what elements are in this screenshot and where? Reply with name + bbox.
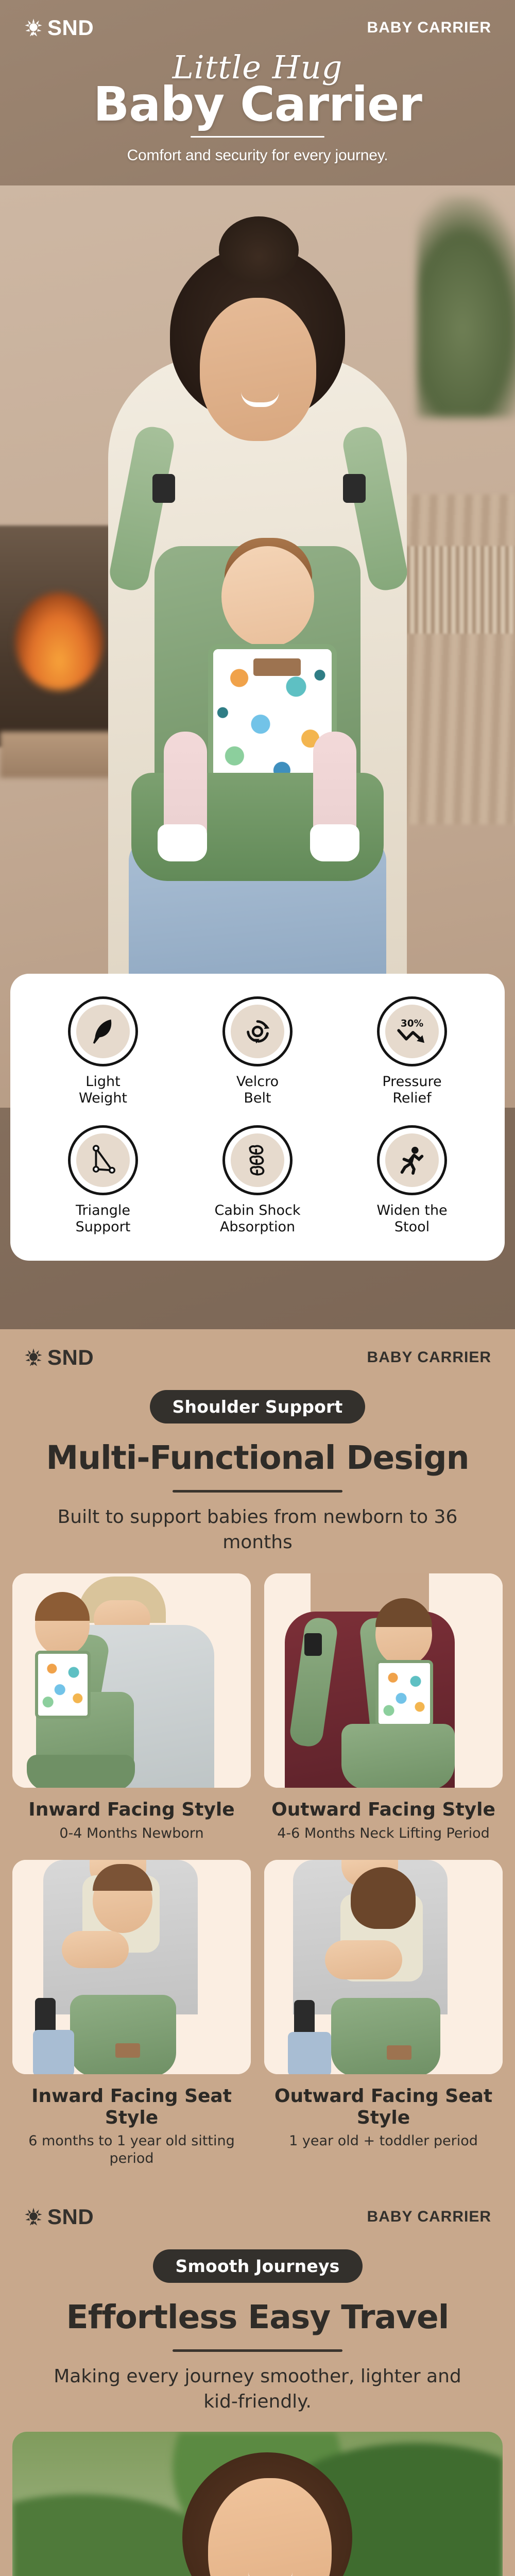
mother-arm [325, 1940, 402, 1979]
carry-style-card-outward-facing[interactable]: Outward Facing Style 4-6 Months Neck Lif… [264, 1573, 503, 1842]
hero-subtitle: Comfort and security for every journey. [0, 147, 515, 164]
feature-label-line1: Widen the [376, 1202, 447, 1218]
feature-triangle-support: Triangle Support [26, 1125, 180, 1235]
lifestyle-hero-photo [12, 2432, 503, 2576]
hero-divider [191, 136, 324, 138]
section3-pill-badge: Smooth Journeys [153, 2249, 363, 2283]
feature-icon-ring [222, 996, 293, 1066]
carrier-buckle [304, 1633, 322, 1656]
feature-icon-disc [76, 1005, 130, 1058]
carry-style-title: Outward Facing Seat Style [264, 2086, 503, 2128]
carry-style-photo [12, 1573, 251, 1788]
velcro-loop-icon [242, 1015, 273, 1047]
feature-icon-ring: 30% [377, 996, 447, 1066]
feature-icon-ring [68, 1125, 138, 1195]
daisy-flower-icon [24, 18, 43, 38]
brand-leather-tag [253, 658, 301, 676]
feature-label-line2: Weight [79, 1090, 127, 1106]
mother-hair-bun [219, 216, 299, 283]
carry-style-caption: 6 months to 1 year old sitting period [12, 2132, 251, 2168]
feature-widen-the-stool: Widen the Stool [335, 1125, 489, 1235]
carry-style-card-outward-seat[interactable]: Outward Facing Seat Style 1 year old + t… [264, 1860, 503, 2168]
feature-highlights-card: Light Weight [10, 974, 505, 1261]
carrier-hip-seat [27, 1755, 135, 1788]
carry-style-title: Inward Facing Seat Style [12, 2086, 251, 2128]
carrier-hip-seat [341, 1724, 455, 1788]
feature-icon-ring [377, 1125, 447, 1195]
product-listing-page: SND BABY CARRIER Little Hug Baby Carrier… [0, 0, 515, 2576]
carry-style-title: Inward Facing Style [12, 1799, 251, 1820]
mother-smile [248, 2572, 293, 2576]
brand-category: BABY CARRIER [367, 1349, 491, 1366]
feature-icon-disc [231, 1005, 284, 1058]
daisy-flower-icon [24, 2207, 43, 2227]
section3-subtitle: Making every journey smoother, lighter a… [0, 2364, 515, 2414]
feature-pressure-relief: 30% Pressure Relief [335, 996, 489, 1107]
mother-jeans [288, 2032, 331, 2074]
section2-subtitle: Built to support babies from newborn to … [0, 1505, 515, 1555]
brand-bar-section3: SND BABY CARRIER [0, 2189, 515, 2245]
carry-style-title: Outward Facing Style [264, 1799, 503, 1820]
section2-pill-wrap: Shoulder Support [0, 1390, 515, 1423]
carry-style-caption: 0-4 Months Newborn [12, 1825, 251, 1843]
houseplant [417, 196, 515, 417]
feature-label-line2: Stool [394, 1219, 430, 1235]
brand-bar-section2: SND BABY CARRIER [0, 1329, 515, 1386]
feature-velcro-belt: Velcro Belt [180, 996, 335, 1107]
carry-style-caption: 1 year old + toddler period [264, 2132, 503, 2150]
feature-label-line2: Support [76, 1219, 131, 1235]
hero-section: SND BABY CARRIER Little Hug Baby Carrier… [0, 0, 515, 1329]
feature-label-line1: Velcro [236, 1074, 279, 1090]
effortless-travel-section: SND BABY CARRIER Smooth Journeys Effortl… [0, 2189, 515, 2576]
brand-name: SND [47, 17, 94, 39]
carry-style-photo [264, 1573, 503, 1788]
feature-icon-ring [68, 996, 138, 1066]
section2-title: Multi-Functional Design [0, 1439, 515, 1477]
section3-pill-wrap: Smooth Journeys [0, 2249, 515, 2283]
feature-icon-disc [76, 1133, 130, 1187]
section2-divider [173, 1490, 342, 1493]
feature-light-weight: Light Weight [26, 996, 180, 1107]
brand-category: BABY CARRIER [367, 2208, 491, 2226]
brand-name: SND [47, 2206, 94, 2228]
feature-label-line2: Belt [244, 1090, 271, 1106]
feature-label-line1: Cabin Shock [215, 1202, 301, 1218]
section3-title: Effortless Easy Travel [0, 2298, 515, 2336]
brand-category: BABY CARRIER [367, 19, 491, 37]
feature-label-line2: Absorption [220, 1219, 295, 1235]
triangle-icon [87, 1144, 119, 1176]
carry-style-card-inward-seat[interactable]: Inward Facing Seat Style 6 months to 1 y… [12, 1860, 251, 2168]
mother-jeans [33, 2030, 74, 2074]
feature-label-line2: Relief [392, 1090, 431, 1106]
feature-cabin-shock-absorption: Cabin Shock Absorption [180, 1125, 335, 1235]
section3-divider [173, 2349, 342, 2352]
hero-text-block: Little Hug Baby Carrier Comfort and secu… [0, 52, 515, 164]
baby-head-back [351, 1867, 416, 1929]
carry-style-card-inward-facing[interactable]: Inward Facing Style 0-4 Months Newborn [12, 1573, 251, 1842]
brand-name: SND [47, 1347, 94, 1368]
feature-icon-disc [385, 1133, 439, 1187]
feature-icon-disc: 30% [385, 1005, 439, 1058]
carry-styles-grid: Inward Facing Style 0-4 Months Newborn O… [0, 1555, 515, 2173]
hip-seat [70, 1995, 176, 2074]
feature-label-line1: Triangle [76, 1202, 130, 1218]
brand-leather-tag [387, 2045, 411, 2060]
brand-logo: SND [24, 2206, 94, 2228]
feature-label-line1: Light [85, 1074, 120, 1090]
brand-bar-hero: SND BABY CARRIER [0, 0, 515, 56]
brand-logo: SND [24, 1347, 94, 1368]
feature-label-line1: Pressure [382, 1074, 441, 1090]
feature-icon-disc [231, 1133, 284, 1187]
carrier-buckle-left [152, 474, 175, 503]
fireplace-flame [15, 592, 103, 690]
section2-pill-badge: Shoulder Support [150, 1390, 366, 1423]
carrier-print-panel [35, 1651, 91, 1719]
hero-photo [0, 185, 515, 1108]
brand-leather-tag [115, 2043, 140, 2058]
pressure-badge-text: 30% [401, 1019, 423, 1029]
hero-title: Baby Carrier [0, 80, 515, 129]
pressure-drop-icon: 30% [393, 1015, 431, 1047]
baby-shoe-left [158, 824, 207, 861]
spine-icon [244, 1143, 271, 1177]
carry-style-photo [12, 1860, 251, 2074]
mother-face [200, 298, 316, 441]
baby-shoe-right [310, 824, 359, 861]
mother-arm [62, 1931, 129, 1968]
baby-head [221, 546, 314, 647]
feature-grid: Light Weight [26, 996, 489, 1235]
daisy-flower-icon [24, 1348, 43, 1367]
hip-seat [331, 1998, 440, 2074]
feature-icon-ring [222, 1125, 293, 1195]
carrier-print-panel [375, 1660, 433, 1727]
carry-style-photo [264, 1860, 503, 2074]
brand-logo: SND [24, 17, 94, 39]
carry-style-caption: 4-6 Months Neck Lifting Period [264, 1825, 503, 1843]
multifunctional-design-section: SND BABY CARRIER Shoulder Support Multi-… [0, 1329, 515, 2189]
feather-icon [87, 1015, 119, 1047]
carrier-buckle-right [343, 474, 366, 503]
running-person-icon [396, 1144, 428, 1176]
